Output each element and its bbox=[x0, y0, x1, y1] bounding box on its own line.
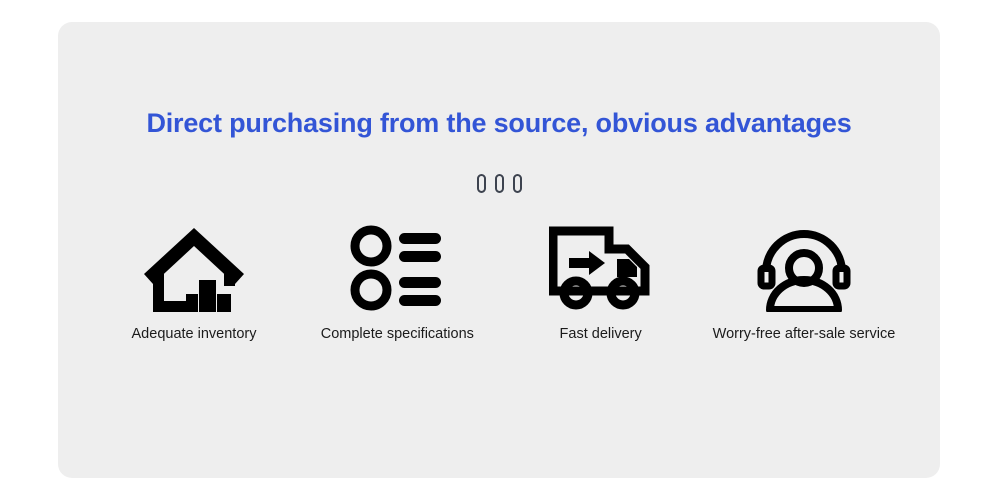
banner-stage: Direct purchasing from the source, obvio… bbox=[0, 0, 1000, 499]
feature-label: Complete specifications bbox=[321, 326, 474, 342]
feature-label: Worry-free after-sale service bbox=[713, 326, 896, 342]
delivery-truck-icon bbox=[549, 220, 653, 316]
feature-label: Adequate inventory bbox=[132, 326, 257, 342]
feature-item-after-sale-service: Worry-free after-sale service bbox=[704, 220, 904, 342]
divider-pill-2 bbox=[495, 174, 504, 193]
feature-item-adequate-inventory: Adequate inventory bbox=[94, 220, 294, 342]
three-pill-divider bbox=[58, 174, 940, 193]
divider-pill-1 bbox=[477, 174, 486, 193]
feature-label: Fast delivery bbox=[560, 326, 642, 342]
page-title: Direct purchasing from the source, obvio… bbox=[58, 108, 940, 139]
specifications-list-icon bbox=[349, 220, 445, 316]
warehouse-house-icon bbox=[142, 220, 246, 316]
features-row: Adequate inventory bbox=[58, 220, 940, 342]
feature-item-fast-delivery: Fast delivery bbox=[501, 220, 701, 342]
promo-banner-card: Direct purchasing from the source, obvio… bbox=[58, 22, 940, 478]
divider-pill-3 bbox=[513, 174, 522, 193]
customer-service-headset-icon bbox=[754, 220, 854, 316]
feature-item-complete-specifications: Complete specifications bbox=[297, 220, 497, 342]
